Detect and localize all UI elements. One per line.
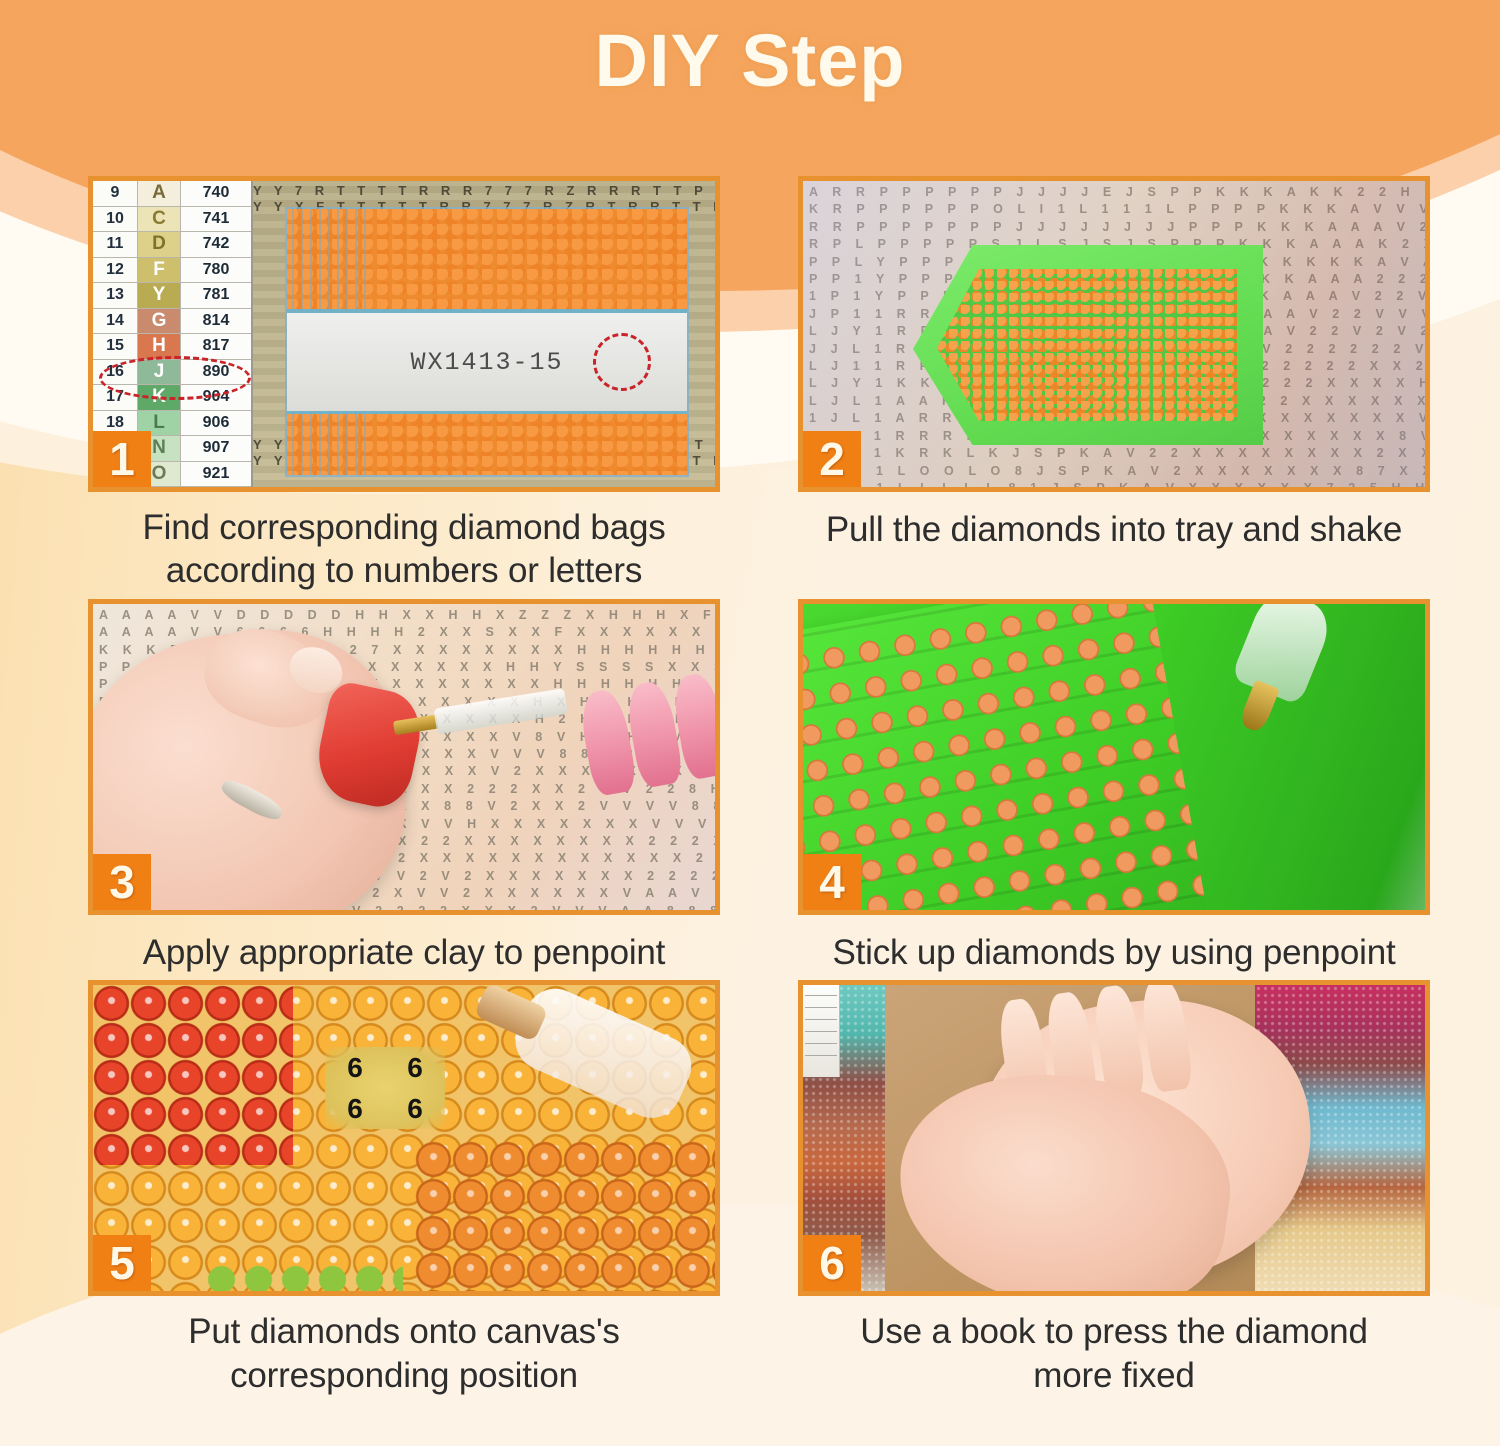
step-caption-5: Put diamonds onto canvas's corresponding… [84, 1310, 724, 1397]
legend-letter: K [138, 385, 181, 410]
legend-number: 10 [93, 207, 138, 232]
page-title-container: DIY Step [0, 18, 1500, 103]
step-cell-1: 9 A 740 10 C 741 11 D 742 [84, 176, 724, 593]
legend-strip [803, 985, 840, 1077]
caption-line: Stick up diamonds by using penpoint [794, 931, 1434, 974]
legend-number: 9 [93, 181, 138, 206]
legend-code: 906 [181, 411, 251, 436]
caption-line: Put diamonds onto canvas's [84, 1310, 724, 1353]
step-caption-2: Pull the diamonds into tray and shake [794, 508, 1434, 551]
caption-line: Apply appropriate clay to penpoint [84, 931, 724, 974]
legend-number: 13 [93, 283, 138, 308]
tray-diamonds [937, 269, 1237, 421]
table-row: 14 G 814 [93, 309, 251, 335]
legend-letter: J [138, 360, 181, 385]
caption-line: according to numbers or letters [84, 549, 724, 592]
step-image-2: A R R P P P P P P J J J J E J S P P K K … [798, 176, 1430, 492]
step-caption-4: Stick up diamonds by using penpoint [794, 931, 1434, 974]
legend-code: 890 [181, 360, 251, 385]
table-row: 13 Y 781 [93, 283, 251, 309]
canvas-glyph-row: A A A A V V D D D D D H H X X H H X Z Z … [99, 607, 715, 624]
step-caption-6: Use a book to press the diamond more fix… [794, 1310, 1434, 1397]
green-bead-row [203, 1261, 403, 1291]
legend-letter: H [138, 334, 181, 359]
step-image-6: 6 [798, 980, 1430, 1296]
legend-code: 781 [181, 283, 251, 308]
step-cell-3: A A A A V V D D D D D H H X X H H X Z Z … [84, 599, 724, 974]
legend-code: 740 [181, 181, 251, 206]
step-badge-1: 1 [93, 431, 151, 487]
code-circle-marker [593, 333, 651, 391]
cell-mark: 6 [347, 1093, 363, 1125]
table-row: 9 A 740 [93, 181, 251, 207]
legend-letter: D [138, 232, 181, 257]
table-row: 10 C 741 [93, 207, 251, 233]
table-row: 16 J 890 [93, 360, 251, 386]
legend-number: 17 [93, 385, 138, 410]
table-row: 17 K 904 [93, 385, 251, 411]
pen-body [1231, 599, 1337, 706]
step-cell-4: 4 Stick up diamonds by using penpoint [794, 599, 1434, 974]
legend-number: 14 [93, 309, 138, 334]
page-title: DIY Step [595, 18, 906, 103]
step-badge-3: 3 [93, 854, 151, 910]
legend-code: 741 [181, 207, 251, 232]
steps-grid: 9 A 740 10 C 741 11 D 742 [0, 176, 1500, 1397]
table-row: 12 F 780 [93, 258, 251, 284]
caption-line: Use a book to press the diamond [794, 1310, 1434, 1353]
legend-letter: G [138, 309, 181, 334]
legend-letter: Y [138, 283, 181, 308]
step-cell-2: A R R P P P P P P J J J J E J S P P K K … [794, 176, 1434, 593]
legend-code: 904 [181, 385, 251, 410]
caption-line: more fixed [794, 1354, 1434, 1397]
step-badge-2: 2 [803, 431, 861, 487]
step-image-1: 9 A 740 10 C 741 11 D 742 [88, 176, 720, 492]
table-row: 11 D 742 [93, 232, 251, 258]
bag-code-text: WX1413-15 [410, 348, 563, 377]
table-row-highlighted: 15 H 817 [93, 334, 251, 360]
diamond-bag: WX1413-15 [285, 207, 689, 477]
cell-mark: 6 [407, 1093, 423, 1125]
step-cell-5: 6 6 6 6 5 Put diamonds onto canvas's cor… [84, 980, 724, 1397]
caption-line: corresponding position [84, 1354, 724, 1397]
pen-tip [1238, 679, 1280, 733]
step-image-3: A A A A V V D D D D D H H X X H H X Z Z … [88, 599, 720, 915]
legend-letter: A [138, 181, 181, 206]
empty-canvas-cells: 6 6 6 6 [325, 1047, 445, 1129]
orange-bead-cluster [415, 1141, 715, 1291]
canvas-with-bag: Y Y 7 R T T T T R R R 7 7 7 R Z R R R T … [253, 181, 715, 487]
pen-tip [393, 714, 439, 735]
step-image-4: 4 [798, 599, 1430, 915]
cell-mark: 6 [407, 1052, 423, 1084]
step-badge-6: 6 [803, 1235, 861, 1291]
step-image-5: 6 6 6 6 5 [88, 980, 720, 1296]
legend-code: 742 [181, 232, 251, 257]
legend-code: 814 [181, 309, 251, 334]
red-bead-cluster [93, 985, 293, 1165]
diy-step-infographic: DIY Step 9 A 740 10 C 741 1 [0, 0, 1500, 1446]
legend-code: 921 [181, 462, 251, 487]
legend-number: 11 [93, 232, 138, 257]
pen-tip [474, 983, 549, 1043]
step-caption-3: Apply appropriate clay to penpoint [84, 931, 724, 974]
caption-line: Find corresponding diamond bags [84, 506, 724, 549]
legend-number: 16 [93, 360, 138, 385]
legend-code: 817 [181, 334, 251, 359]
bag-label: WX1413-15 [287, 313, 687, 411]
caption-line: Pull the diamonds into tray and shake [794, 508, 1434, 551]
legend-letter: F [138, 258, 181, 283]
legend-letter: C [138, 207, 181, 232]
canvas-glyph-row: Y Y 7 R T T T T R R R 7 7 7 R Z R R R T … [253, 183, 715, 198]
step-caption-1: Find corresponding diamond bags accordin… [84, 506, 724, 593]
step-badge-5: 5 [93, 1235, 151, 1291]
legend-code: 907 [181, 436, 251, 461]
step-cell-6: 6 Use a book to press the diamond more f… [794, 980, 1434, 1397]
cell-mark: 6 [347, 1052, 363, 1084]
legend-number: 15 [93, 334, 138, 359]
step-badge-4: 4 [803, 854, 861, 910]
legend-number: 12 [93, 258, 138, 283]
legend-code: 780 [181, 258, 251, 283]
